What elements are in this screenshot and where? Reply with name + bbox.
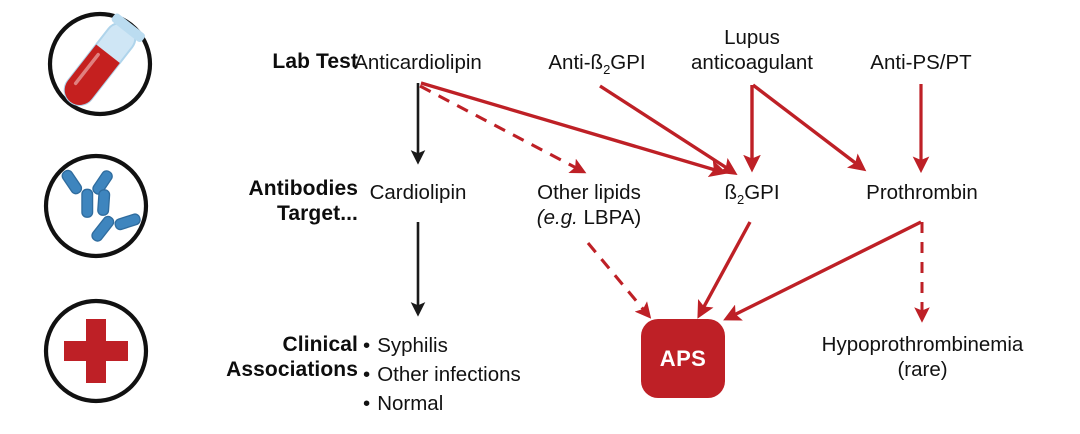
aps-label: APS [660,346,706,372]
aps-node: APS [641,319,725,398]
node-hypoprothrombinemia: Hypoprothrombinemia (rare) [790,332,1055,382]
bullet-marker: • [363,363,370,386]
node-lupus-anticoagulant-line2: anticoagulant [665,50,839,75]
node-anticardiolipin-text: Anticardiolipin [354,51,482,74]
row-label-antibodies-line1: Antibodies [249,177,359,200]
bullet-marker: • [363,334,370,357]
bullet-label: Syphilis [377,334,448,357]
node-hypoprothrombinemia-line2: (rare) [790,357,1055,382]
node-anticardiolipin: Anticardiolipin [338,50,498,75]
node-b2gpi-suffix: GPI [744,181,779,204]
list-item: •Other infections [363,360,521,389]
node-other-lipids-line2: (e.g. LBPA) [503,205,675,230]
node-anti-b2gpi-prefix: Anti-ß [548,51,603,74]
bullet-label: Other infections [377,363,521,386]
bullet-marker: • [363,392,370,415]
edge-anticardiolipin-to-other-lipids [420,86,582,171]
list-item: •Syphilis [363,331,521,360]
edge-b2gpi-to-aps [700,222,750,314]
node-anti-ps-pt: Anti-PS/PT [844,50,998,75]
list-item: •Normal [363,389,521,418]
row-label-clinical-line1: Clinical [283,333,359,356]
node-other-lipids-eg: (e.g. [537,206,578,229]
row-label-antibodies-line2: Target... [277,202,358,225]
edge-lupus-to-prothrombin [753,85,862,168]
node-anti-b2gpi-suffix: GPI [610,51,645,74]
antibodies-icon [38,148,154,264]
node-lupus-anticoagulant: Lupus anticoagulant [665,25,839,75]
edge-prothrombin-to-aps [728,222,921,318]
row-label-clinical-associations: Clinical Associations [130,332,358,382]
edge-anti-b2gpi-to-b2gpi [600,86,733,172]
node-prothrombin-text: Prothrombin [866,181,978,204]
node-hypoprothrombinemia-line1: Hypoprothrombinemia [822,333,1024,356]
clinical-bullet-list: •Syphilis •Other infections •Normal [363,331,521,418]
node-other-lipids-lbpa: LBPA) [578,206,641,229]
row-label-lab-test: Lab Test [160,49,358,74]
diagram-canvas: Lab Test Anticardiolipin Anti-ß2GPI Lupu… [0,0,1080,434]
node-anti-b2gpi: Anti-ß2GPI [522,50,672,75]
row-label-antibodies-target: Antibodies Target... [158,176,358,226]
node-cardiolipin-text: Cardiolipin [370,181,467,204]
node-lupus-anticoagulant-line1: Lupus [724,26,780,49]
edge-other-lipids-to-aps [588,243,648,315]
bullet-label: Normal [377,392,443,415]
node-other-lipids: Other lipids (e.g. LBPA) [503,180,675,230]
test-tube-icon [42,6,158,122]
edge-anticardiolipin-to-b2gpi [421,83,722,172]
node-b2gpi: ß2GPI [692,180,812,205]
node-b2gpi-prefix: ß [724,181,737,204]
row-label-clinical-line2: Associations [226,358,358,381]
node-cardiolipin: Cardiolipin [343,180,493,205]
node-anti-ps-pt-text: Anti-PS/PT [870,51,971,74]
node-prothrombin: Prothrombin [845,180,999,205]
node-other-lipids-line1: Other lipids [537,181,641,204]
